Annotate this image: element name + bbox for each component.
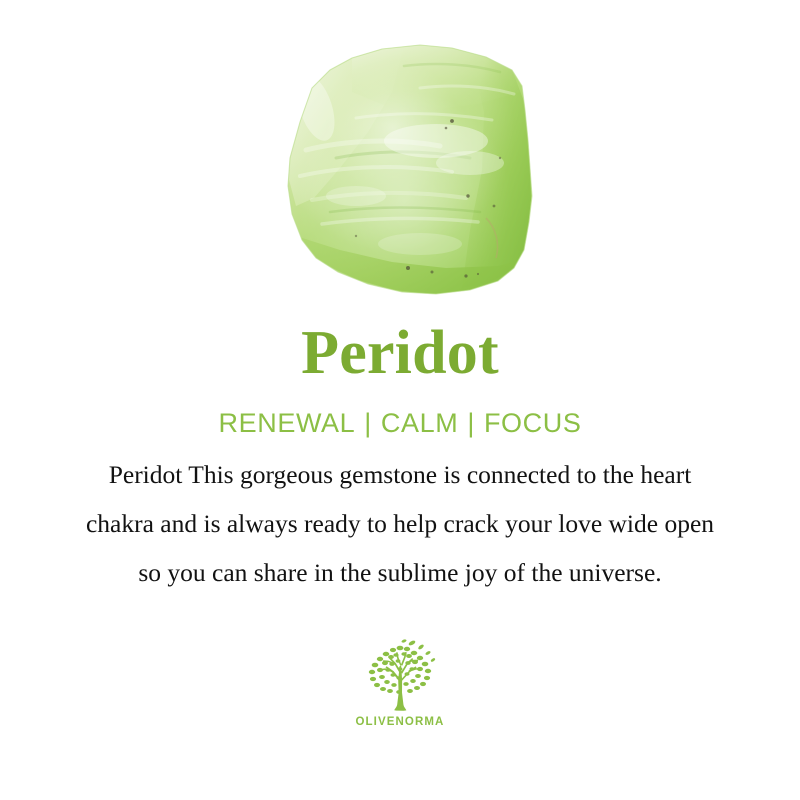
attribute-renewal: RENEWAL: [219, 408, 356, 439]
brand-wordmark: OLIVENORMA: [356, 717, 445, 729]
product-description: Peridot This gorgeous gemstone is connec…: [18, 450, 782, 600]
peridot-crystal-illustration: [0, 0, 800, 310]
description-line-3: so you can share in the sublime joy of t…: [36, 548, 764, 597]
product-card: Peridot RENEWAL | CALM | FOCUS Peridot T…: [0, 0, 800, 800]
attribute-list: RENEWAL | CALM | FOCUS: [219, 396, 582, 450]
attribute-calm: CALM: [381, 408, 458, 439]
gemstone-image: [0, 0, 800, 310]
brand-logo: OLIVENORMA: [340, 636, 460, 729]
crystal-body: [280, 35, 550, 310]
attribute-separator-2: |: [458, 408, 484, 439]
description-line-1: Peridot This gorgeous gemstone is connec…: [36, 450, 764, 499]
page-title: Peridot: [301, 310, 499, 396]
attribute-focus: FOCUS: [484, 408, 582, 439]
attribute-separator-1: |: [355, 408, 381, 439]
olive-tree-icon: [352, 636, 448, 714]
description-line-2: chakra and is always ready to help crack…: [36, 499, 764, 548]
